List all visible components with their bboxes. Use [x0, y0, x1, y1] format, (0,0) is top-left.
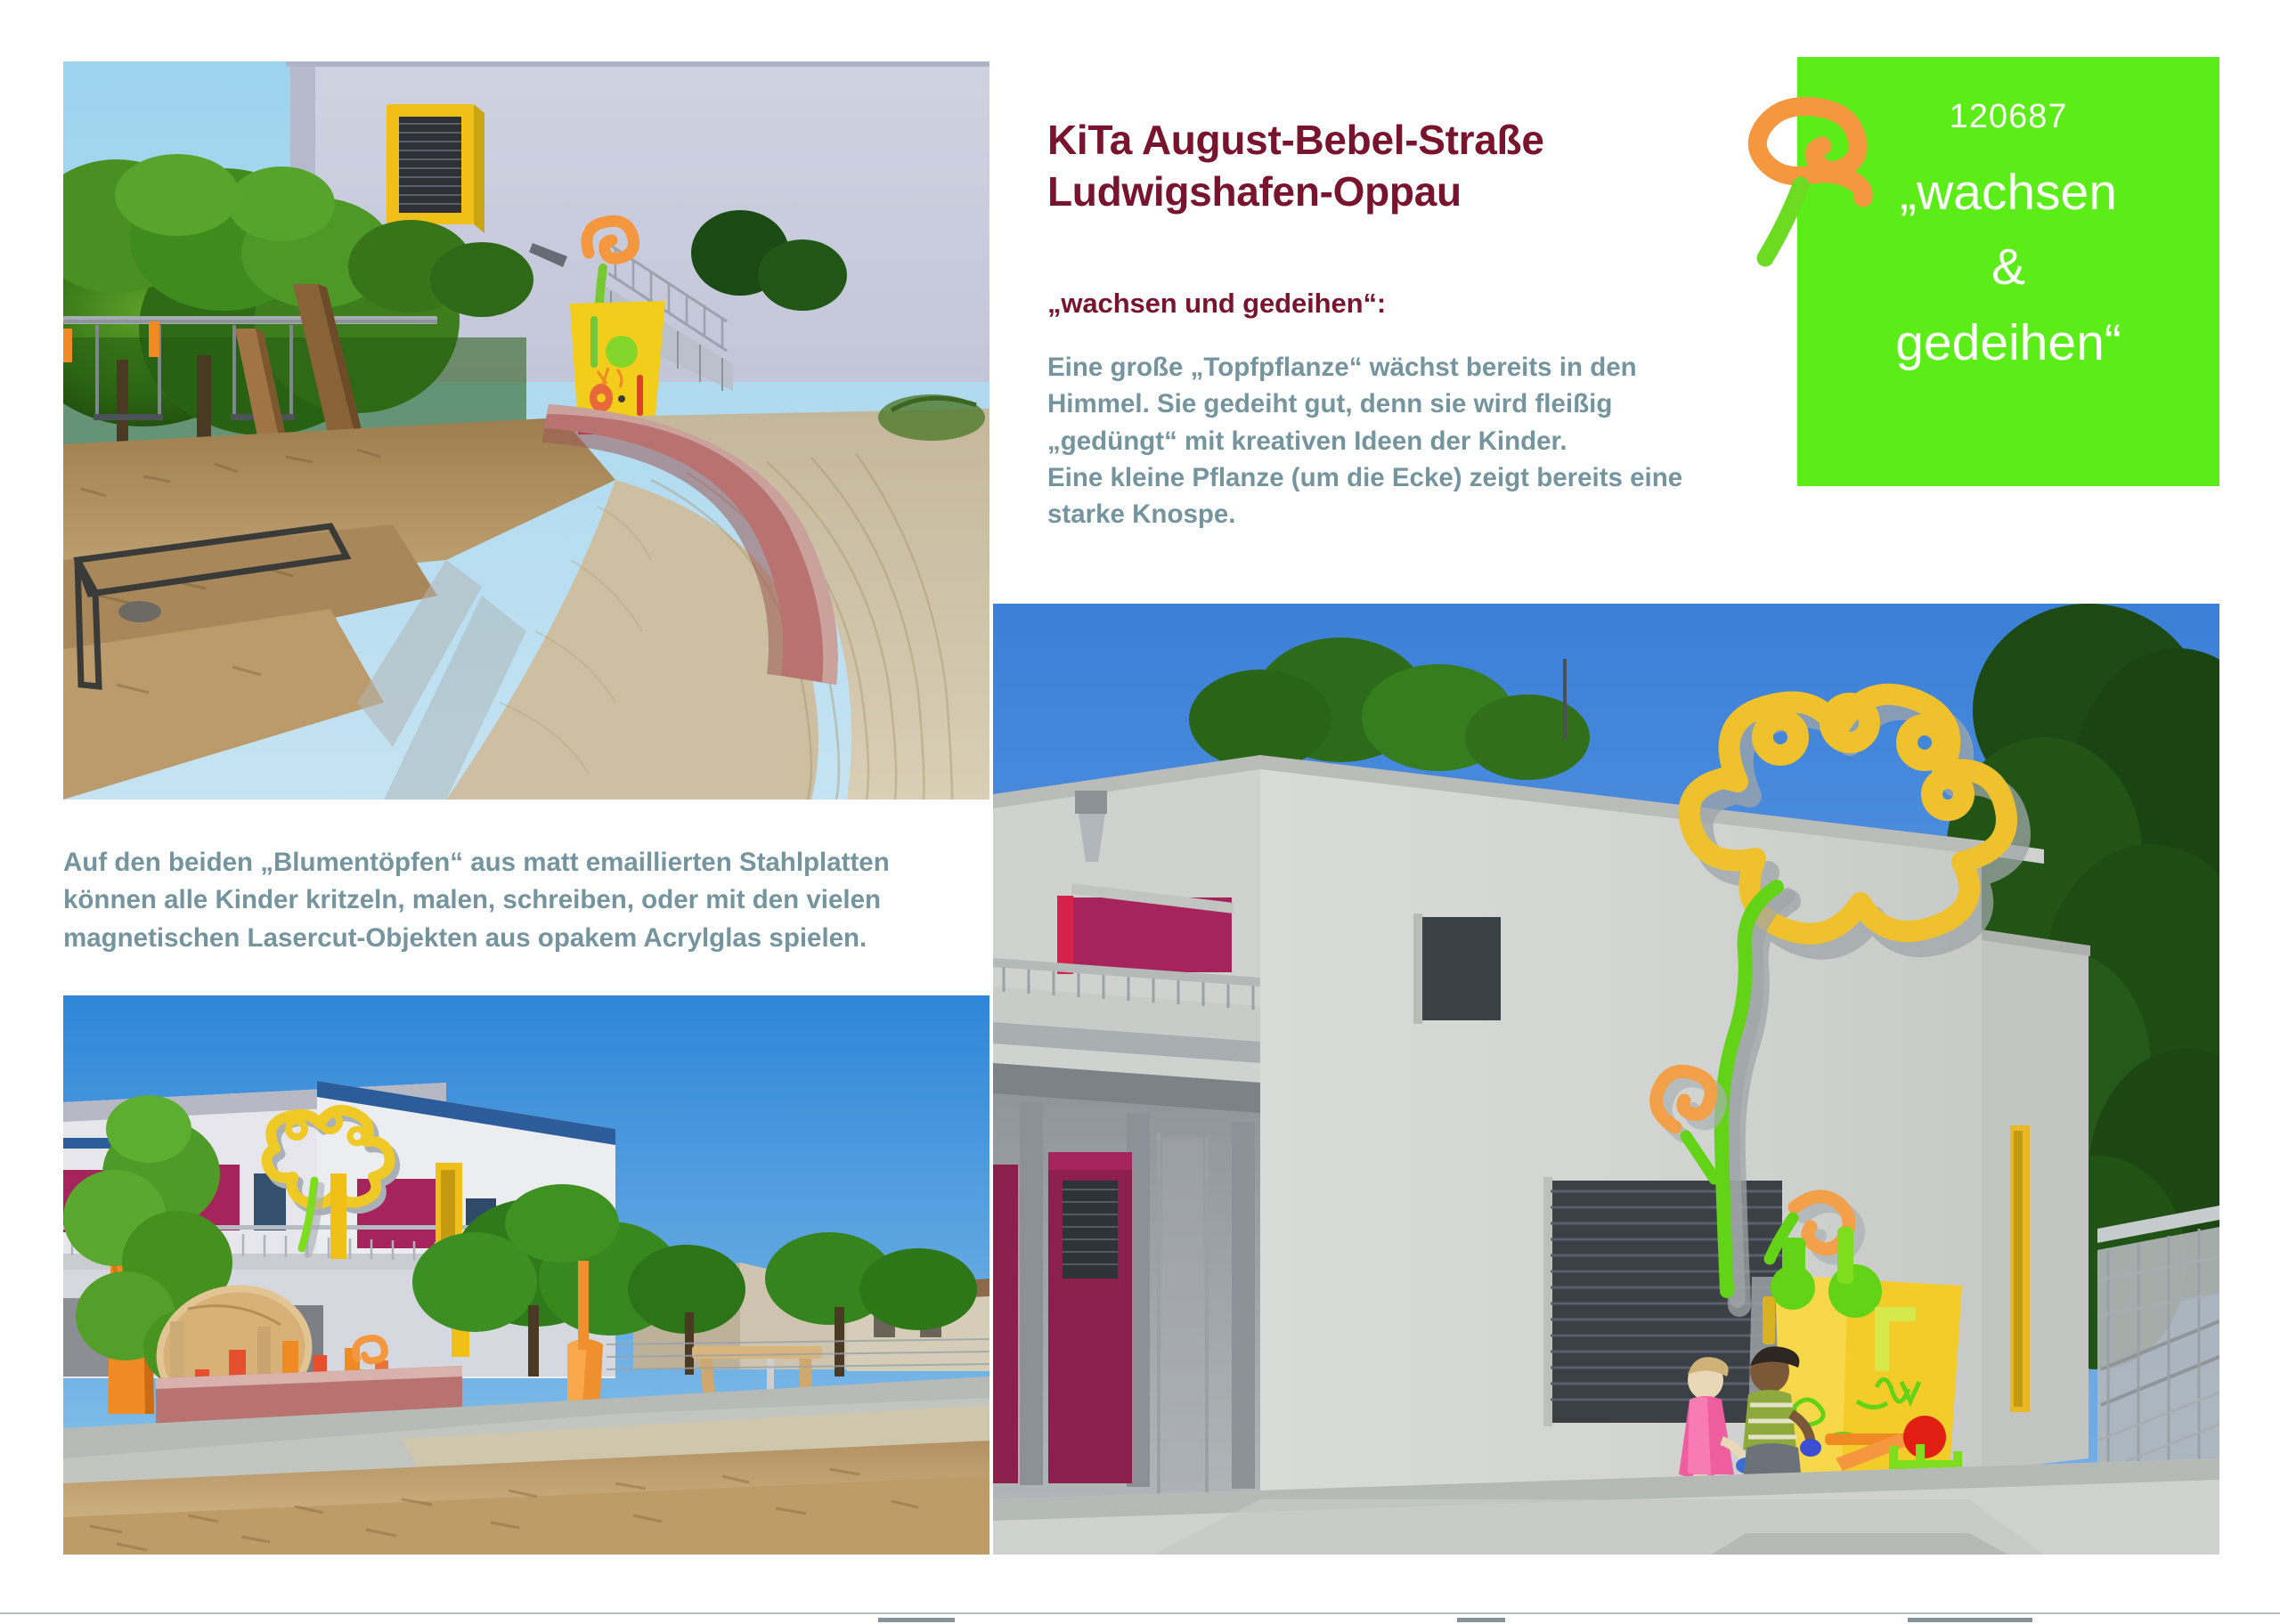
edge-mark [1908, 1618, 2032, 1622]
edge-mark [1457, 1618, 1505, 1622]
photo-facade-flower-art [993, 604, 2219, 1555]
page-title: KiTa August-Bebel-Straße Ludwigshafen-Op… [1047, 114, 1769, 218]
title-line-2: Ludwigshafen-Oppau [1047, 166, 1769, 217]
photo-playground-swings [63, 61, 989, 800]
caption-line-3: magnetischen Lasercut-Objekten aus opake… [63, 920, 1007, 957]
logo-motto: „wachsen & gedeihen“ [1797, 155, 2219, 380]
logo-motto-line-1: „wachsen [1797, 155, 2219, 230]
logo-panel: 120687 „wachsen & gedeihen“ [1797, 57, 2219, 486]
photo-playground-swings-art [63, 61, 989, 800]
photo-playground-equipment-art [63, 995, 989, 1555]
edge-mark [878, 1618, 955, 1622]
logo-motto-line-3: gedeihen“ [1797, 305, 2219, 380]
photo-playground-equipment [63, 995, 989, 1555]
photo-caption: Auf den beiden „Blumentöpfen“ aus matt e… [63, 844, 1007, 957]
project-number: 120687 [1797, 100, 2219, 134]
body-line-1: Eine große „Topfpflanze“ wächst bereits … [1047, 349, 1787, 386]
next-page-edge [0, 1612, 2280, 1624]
logo-motto-line-2: & [1797, 230, 2219, 304]
body-line-4: Eine kleine Pflanze (um die Ecke) zeigt … [1047, 459, 1787, 496]
document-page: KiTa August-Bebel-Straße Ludwigshafen-Op… [0, 0, 2280, 1622]
body-copy: Eine große „Topfpflanze“ wächst bereits … [1047, 349, 1787, 532]
title-line-1: KiTa August-Bebel-Straße [1047, 114, 1769, 166]
body-line-5: starke Knospe. [1047, 496, 1787, 532]
caption-line-2: können alle Kinder kritzeln, malen, schr… [63, 881, 1007, 919]
body-line-3: „gedüngt“ mit kreativen Ideen der Kinder… [1047, 423, 1787, 459]
caption-line-1: Auf den beiden „Blumentöpfen“ aus matt e… [63, 844, 1007, 881]
subheading: „wachsen und gedeihen“: [1047, 288, 1386, 320]
body-line-2: Himmel. Sie gedeiht gut, denn sie wird f… [1047, 386, 1787, 422]
photo-facade-flower [993, 604, 2219, 1555]
